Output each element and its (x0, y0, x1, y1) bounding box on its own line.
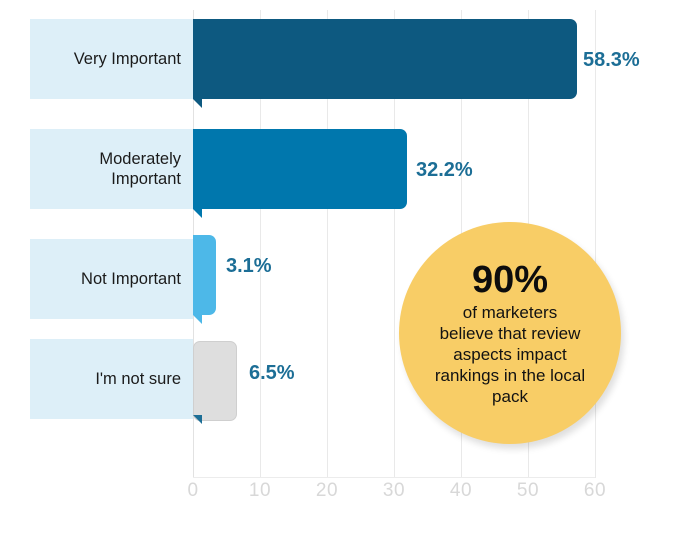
bar-0[interactable] (193, 19, 577, 99)
value-label-1: 32.2% (416, 159, 473, 182)
category-label-box-1: Moderately Important (30, 129, 193, 209)
xtick-label-3: 30 (374, 480, 414, 502)
bar-tail-0 (193, 99, 202, 108)
callout-body-text: of marketers believe that review aspects… (435, 302, 585, 407)
value-label-3: 6.5% (249, 362, 295, 385)
gridline-60 (595, 10, 596, 478)
xtick-label-2: 20 (307, 480, 347, 502)
bar-tail-2 (193, 315, 202, 324)
category-label-1: Moderately Important (99, 149, 181, 189)
chart-canvas: Very Important 58.3% Moderately Importan… (0, 0, 687, 535)
category-label-box-2: Not Important (30, 239, 193, 319)
category-label-3: I'm not sure (95, 369, 181, 389)
bar-tail-1 (193, 209, 202, 218)
x-axis-line (193, 477, 595, 478)
bar-2[interactable] (193, 235, 216, 315)
category-label-2: Not Important (81, 269, 181, 289)
xtick-label-5: 50 (508, 480, 548, 502)
stat-callout-circle: 90% of marketers believe that review asp… (399, 222, 621, 444)
bar-tail-3 (193, 415, 202, 424)
category-label-0: Very Important (74, 49, 181, 69)
category-label-box-0: Very Important (30, 19, 193, 99)
xtick-label-6: 60 (575, 480, 615, 502)
value-label-0: 58.3% (583, 49, 640, 72)
xtick-label-4: 40 (441, 480, 481, 502)
xtick-label-1: 10 (240, 480, 280, 502)
category-label-box-3: I'm not sure (30, 339, 193, 419)
bar-3[interactable] (193, 341, 237, 421)
bar-1[interactable] (193, 129, 407, 209)
callout-headline: 90% (472, 260, 548, 300)
value-label-2: 3.1% (226, 255, 272, 278)
xtick-label-0: 0 (173, 480, 213, 502)
